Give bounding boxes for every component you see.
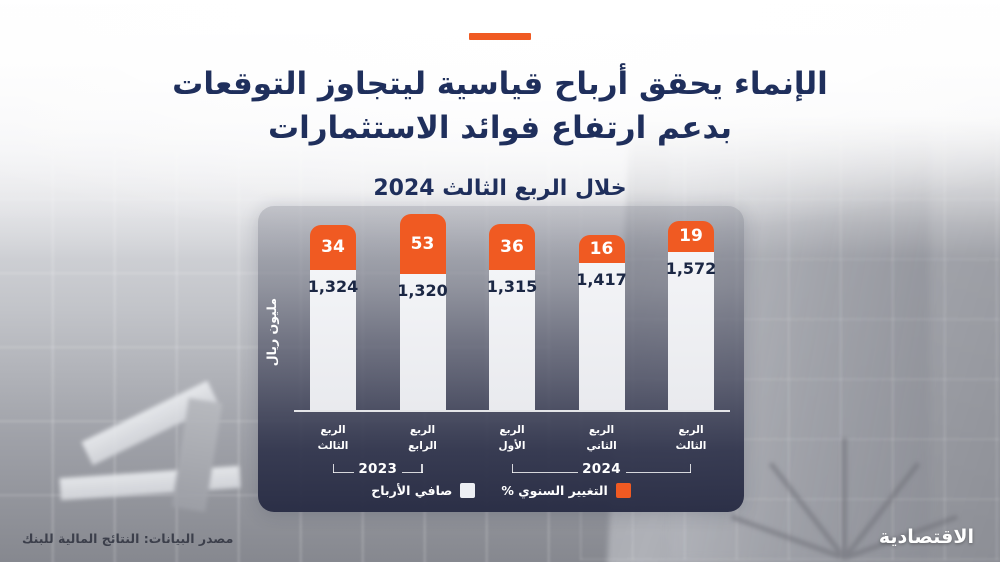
bar-value-change: 36 xyxy=(500,239,524,256)
year-bracket-rule xyxy=(512,472,578,473)
x-axis-line xyxy=(294,410,730,412)
bar-value-change: 16 xyxy=(590,241,614,258)
category-label-line: الثالث xyxy=(668,439,714,455)
chart-legend: صافي الأرباحالتغيير السنوي % xyxy=(258,483,744,498)
bar-value-profit: 1,320 xyxy=(397,283,448,299)
bar-segment-profit: 1,315 xyxy=(489,270,535,410)
plot-area: 341,324531,320361,315161,417191,572 xyxy=(294,214,730,410)
source-note: مصدر البيانات: النتائج المالية للبنك xyxy=(22,531,233,546)
category-label-line: الثاني xyxy=(579,439,625,455)
bar-value-profit: 1,417 xyxy=(576,272,627,288)
bar-value-profit: 1,324 xyxy=(308,279,359,295)
accent-rule xyxy=(469,33,531,40)
headline-line-2: بدعم ارتفاع فوائد الاستثمارات xyxy=(0,106,1000,150)
bar-segment-change: 36 xyxy=(489,224,535,270)
bar-value-profit: 1,315 xyxy=(487,279,538,295)
category-label-line: الربع xyxy=(668,423,714,439)
bar-value-profit: 1,572 xyxy=(666,261,717,277)
legend-item[interactable]: التغيير السنوي % xyxy=(501,483,630,498)
bar-segment-profit: 1,324 xyxy=(310,270,356,410)
bar-value-change: 53 xyxy=(411,236,435,253)
headline-line-1: الإنماء يحقق أرباح قياسية ليتجاوز التوقع… xyxy=(0,62,1000,106)
category-label-line: الربع xyxy=(579,423,625,439)
infographic-canvas: الإنماء يحقق أرباح قياسية ليتجاوز التوقع… xyxy=(0,0,1000,562)
bar-group: 341,324531,320361,315161,417191,572 xyxy=(294,214,730,410)
category-label: الربعالأول xyxy=(489,416,535,468)
bar-segment-change: 16 xyxy=(579,235,625,263)
category-label-line: الثالث xyxy=(310,439,356,455)
legend-swatch xyxy=(460,483,475,498)
category-label-line: الربع xyxy=(310,423,356,439)
category-label: الربعالرابع xyxy=(400,416,446,468)
bar-segment-change: 19 xyxy=(668,221,714,252)
publisher-logo: الاقتصادية xyxy=(879,526,974,548)
bar-value-change: 19 xyxy=(679,228,703,245)
bar-value-change: 34 xyxy=(321,239,345,256)
year-label: 2024 xyxy=(573,461,630,477)
bar-column[interactable]: 191,572 xyxy=(668,214,714,410)
bar-column[interactable]: 161,417 xyxy=(579,214,625,410)
category-label: الربعالثالث xyxy=(668,416,714,468)
bar-segment-profit: 1,572 xyxy=(668,252,714,410)
bar-segment-profit: 1,417 xyxy=(579,263,625,410)
year-bracket: 2024 xyxy=(512,464,691,484)
bar-segment-change: 53 xyxy=(400,214,446,274)
legend-item[interactable]: صافي الأرباح xyxy=(371,483,475,498)
category-label-line: الربع xyxy=(489,423,535,439)
category-label-line: الأول xyxy=(489,439,535,455)
bar-segment-profit: 1,320 xyxy=(400,274,446,410)
legend-swatch xyxy=(616,483,631,498)
bar-segment-change: 34 xyxy=(310,225,356,270)
legend-label: التغيير السنوي % xyxy=(501,483,607,498)
category-label-line: الرابع xyxy=(400,439,446,455)
headline: الإنماء يحقق أرباح قياسية ليتجاوز التوقع… xyxy=(0,62,1000,150)
category-label-line: الربع xyxy=(400,423,446,439)
y-axis-label: مليون ريال xyxy=(264,298,288,366)
year-label: 2023 xyxy=(349,461,406,477)
year-bracket-rule xyxy=(626,472,692,473)
legend-label: صافي الأرباح xyxy=(371,483,452,498)
bar-column[interactable]: 361,315 xyxy=(489,214,535,410)
bar-column[interactable]: 531,320 xyxy=(400,214,446,410)
bar-column[interactable]: 341,324 xyxy=(310,214,356,410)
year-bracket: 2023 xyxy=(333,464,423,484)
subtitle: خلال الربع الثالث 2024 xyxy=(0,176,1000,201)
chart-panel: مليون ريال 341,324531,320361,315161,4171… xyxy=(258,206,744,512)
